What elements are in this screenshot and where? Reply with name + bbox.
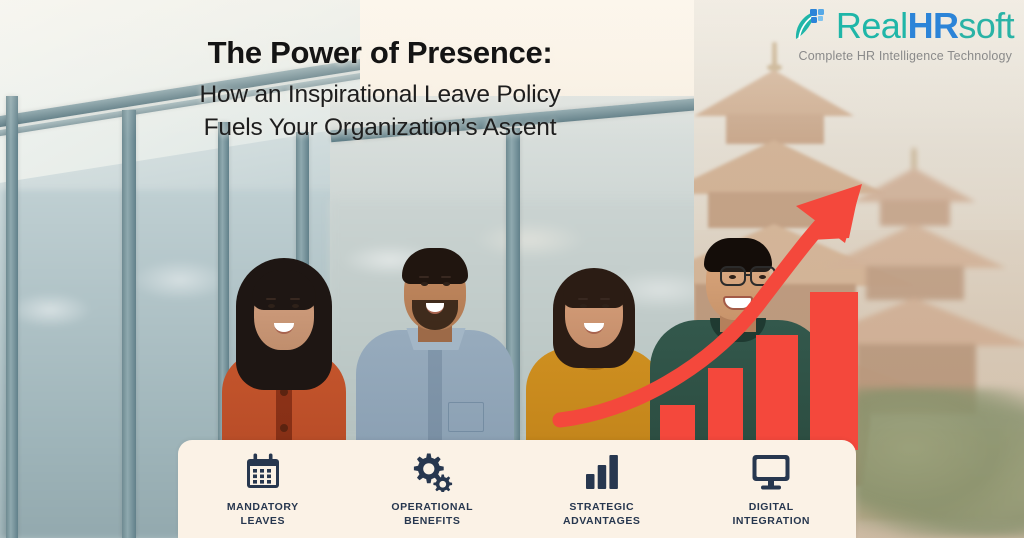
logo-row: RealHRsoft [789,6,1014,46]
feature-strategic-advantages[interactable]: STRATEGIC ADVANTAGES [517,440,687,538]
gears-icon [411,449,453,495]
logo-word-hr: HR [908,5,959,46]
growth-chart-graphic [560,150,900,450]
feature-label: OPERATIONAL BENEFITS [391,500,473,529]
feature-bar: MANDATORY LEAVES OPERATIONAL BENEFITS [178,440,856,538]
logo-tagline: Complete HR Intelligence Technology [789,49,1012,63]
bar-chart-icon [583,449,621,495]
realhrsoft-leaf-logo [789,6,829,46]
upward-growth-arrow [560,150,900,450]
realhrsoft-logo[interactable]: RealHRsoft Complete HR Intelligence Tech… [789,6,1014,63]
banner-root: The Power of Presence: How an Inspiratio… [0,0,1024,538]
subtitle-line-2: Fuels Your Organization’s Ascent [0,112,760,145]
feature-label: MANDATORY LEAVES [227,500,299,529]
feature-operational-benefits[interactable]: OPERATIONAL BENEFITS [348,440,518,538]
feature-mandatory-leaves[interactable]: MANDATORY LEAVES [178,440,348,538]
feature-digital-integration[interactable]: DIGITAL INTEGRATION [687,440,857,538]
monitor-icon [750,449,792,495]
page-subtitle: How an Inspirational Leave Policy Fuels … [0,79,760,144]
logo-word-real: Real [836,5,908,46]
headline-block: The Power of Presence: How an Inspiratio… [0,36,760,145]
logo-word-soft: soft [958,5,1014,46]
subtitle-line-1: How an Inspirational Leave Policy [0,79,760,112]
page-title: The Power of Presence: [0,36,760,69]
logo-wordmark: RealHRsoft [836,8,1014,44]
feature-label: DIGITAL INTEGRATION [732,500,810,529]
calendar-icon [243,449,283,495]
feature-label: STRATEGIC ADVANTAGES [563,500,640,529]
